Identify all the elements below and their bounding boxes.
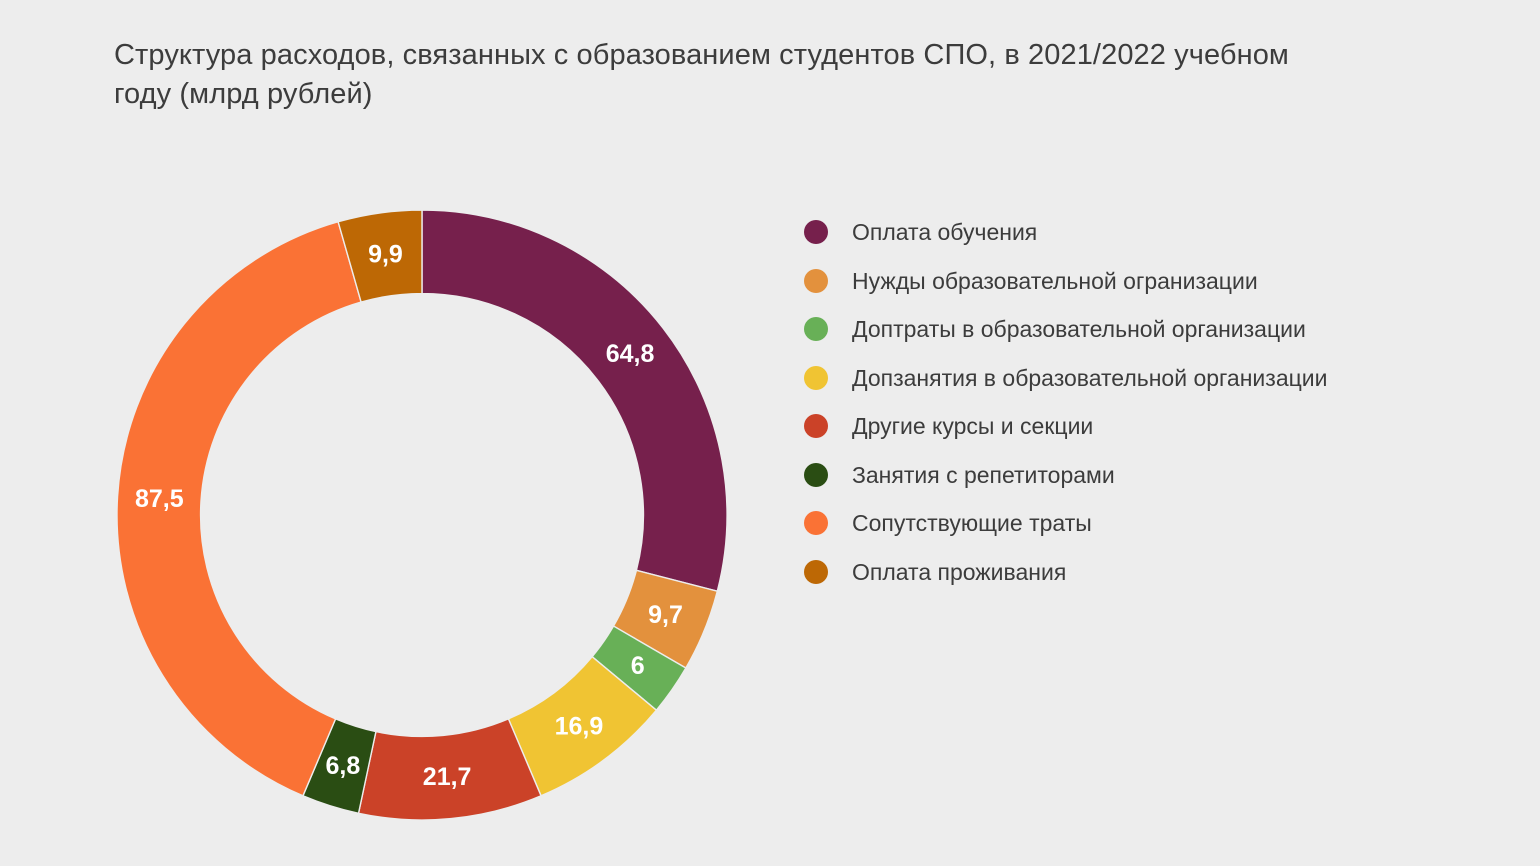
donut-slice-value-label: 9,9 [368,240,403,268]
legend-color-swatch [804,414,828,438]
donut-chart-svg: 64,89,7616,921,76,887,59,9 [0,0,844,866]
legend-item-label: Оплата проживания [852,559,1066,585]
donut-slice-value-label: 6 [631,652,645,680]
legend-item-label: Доптраты в образовательной организации [852,316,1306,342]
legend-item[interactable]: Сопутствующие траты [804,499,1504,548]
donut-slice-value-label: 64,8 [606,340,655,368]
legend-item-label: Оплата обучения [852,219,1037,245]
legend-item-label: Допзанятия в образовательной организации [852,365,1327,391]
legend-color-swatch [804,269,828,293]
chart-container: Структура расходов, связанных с образова… [0,0,1540,866]
legend-item-label: Другие курсы и секции [852,413,1093,439]
legend-item[interactable]: Доптраты в образовательной организации [804,305,1504,354]
donut-slice-value-label: 9,7 [648,601,683,629]
donut-slice-value-label: 6,8 [326,752,361,780]
donut-slice-value-label: 21,7 [423,763,472,791]
donut-slice[interactable] [422,210,727,591]
donut-slice-value-label: 16,9 [555,712,604,740]
donut-chart: 64,89,7616,921,76,887,59,9 [0,0,844,866]
legend-color-swatch [804,463,828,487]
legend-item-label: Нужды образовательной огранизации [852,268,1258,294]
legend-item[interactable]: Нужды образовательной огранизации [804,257,1504,306]
legend-color-swatch [804,560,828,584]
legend-item-label: Занятия с репетиторами [852,462,1115,488]
legend-color-swatch [804,511,828,535]
donut-slice-group [117,210,727,820]
legend-item[interactable]: Оплата проживания [804,548,1504,597]
legend-color-swatch [804,220,828,244]
chart-legend: Оплата обученияНужды образовательной огр… [804,208,1504,596]
legend-item[interactable]: Занятия с репетиторами [804,451,1504,500]
legend-item[interactable]: Оплата обучения [804,208,1504,257]
legend-item-label: Сопутствующие траты [852,510,1092,536]
legend-item[interactable]: Другие курсы и секции [804,402,1504,451]
donut-slice-value-label: 87,5 [135,485,184,513]
legend-color-swatch [804,317,828,341]
legend-item[interactable]: Допзанятия в образовательной организации [804,354,1504,403]
legend-color-swatch [804,366,828,390]
